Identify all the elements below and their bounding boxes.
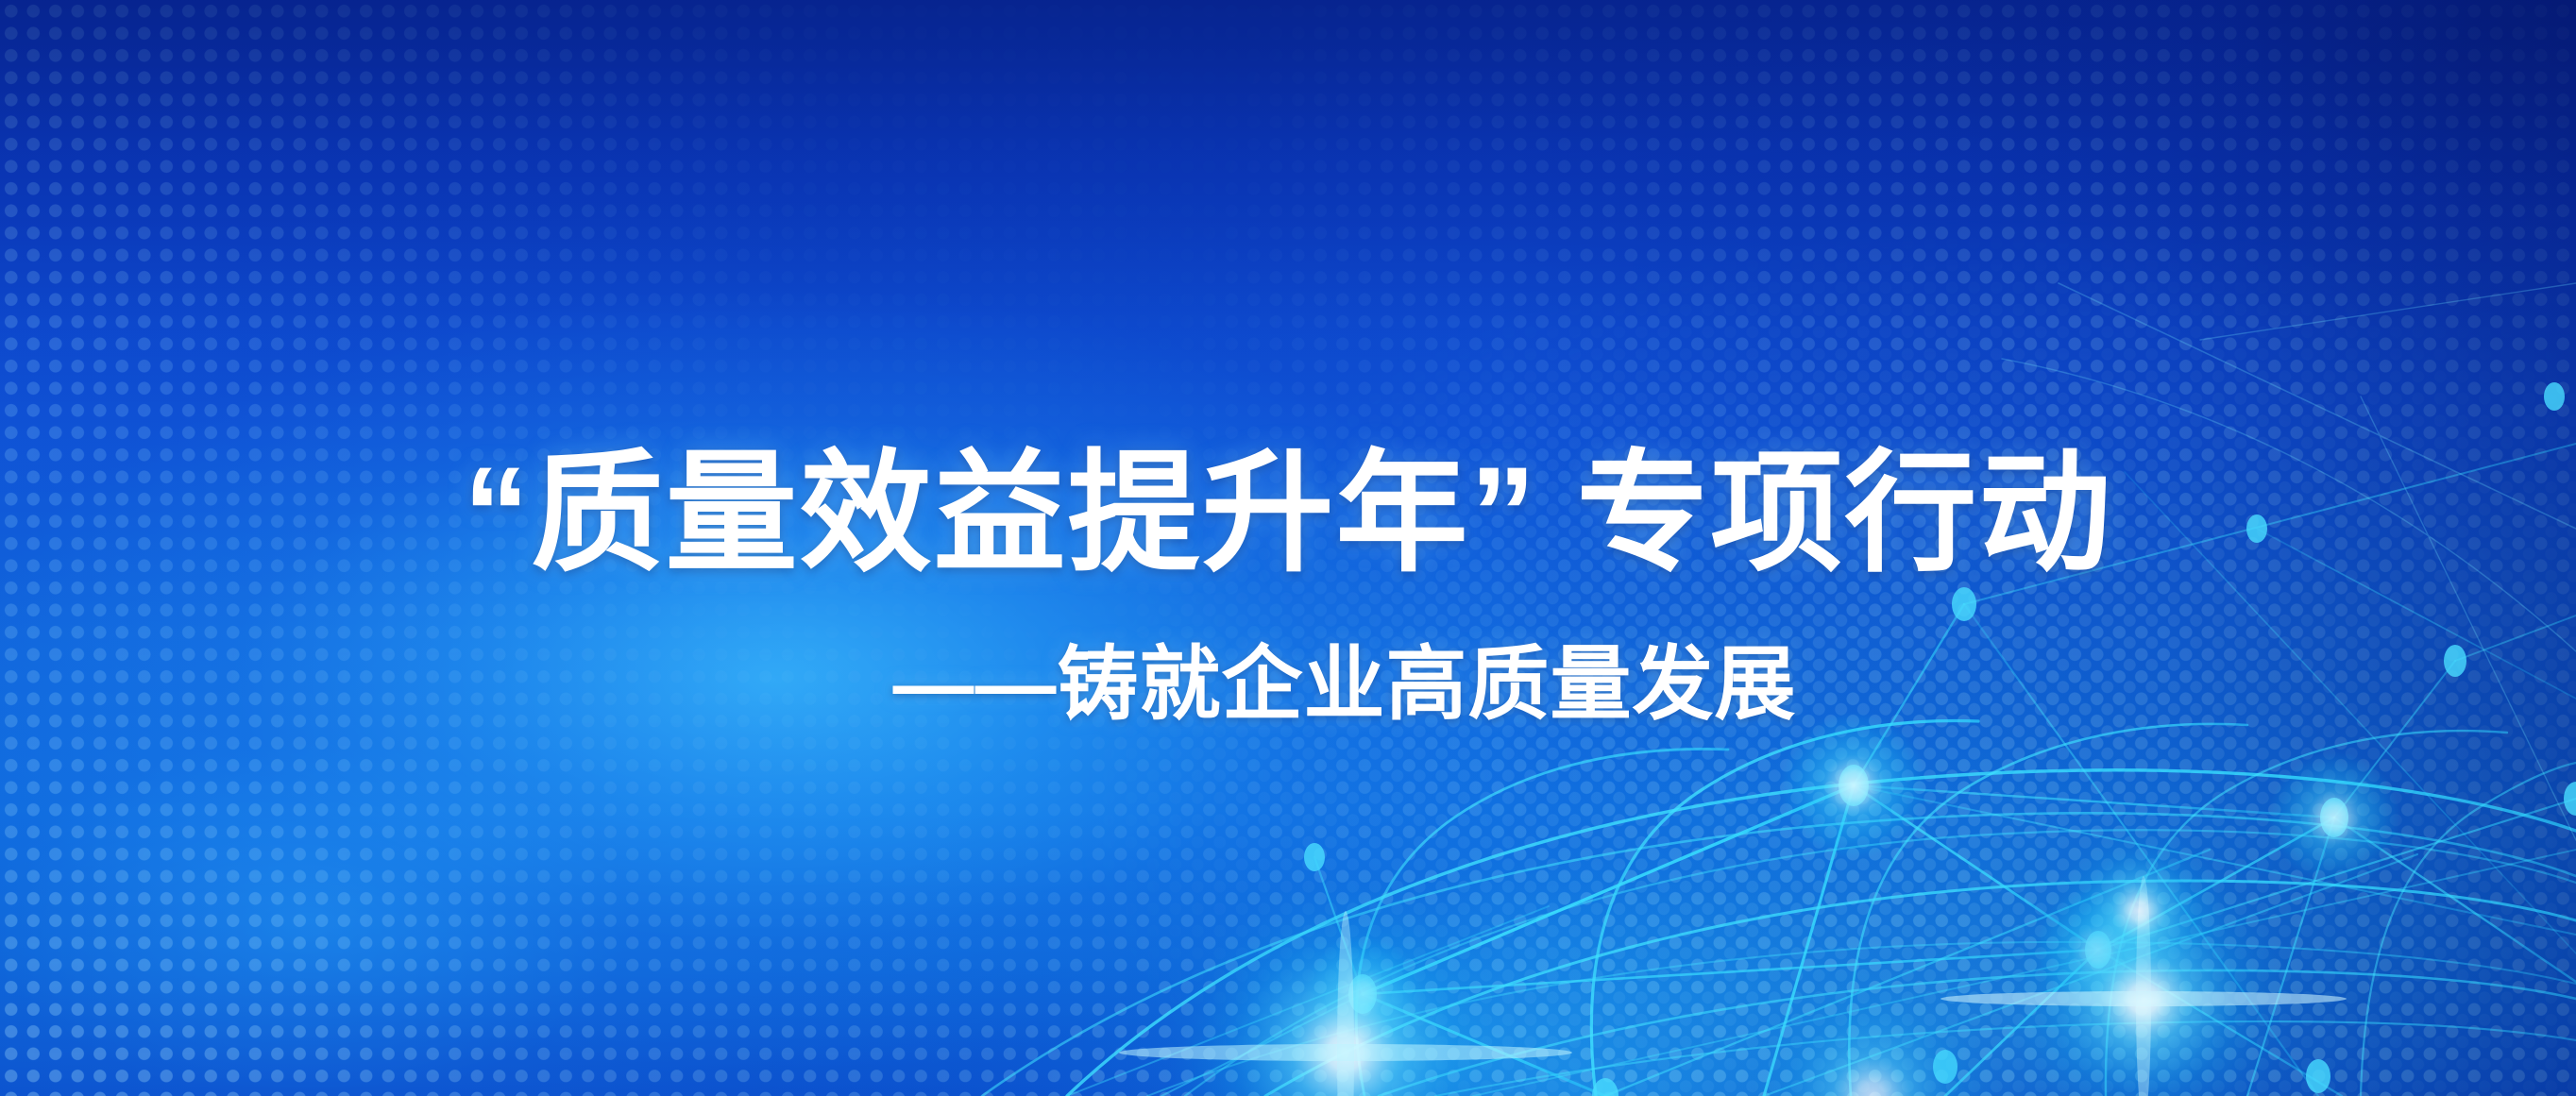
subtitle-container: ——铸就企业高质量发展	[0, 638, 2576, 732]
flare-left	[1119, 873, 1572, 1096]
subtitle: ——铸就企业高质量发展	[893, 638, 1797, 732]
main-title: “质量效益提升年” 专项行动	[464, 440, 2113, 588]
flare-center	[1940, 848, 2347, 1096]
flare-right	[2048, 820, 2229, 1002]
title-container: “质量效益提升年” 专项行动	[0, 440, 2576, 588]
promotional-banner: “质量效益提升年” 专项行动 ——铸就企业高质量发展	[0, 0, 2576, 1096]
flare-edge	[1739, 964, 2004, 1096]
